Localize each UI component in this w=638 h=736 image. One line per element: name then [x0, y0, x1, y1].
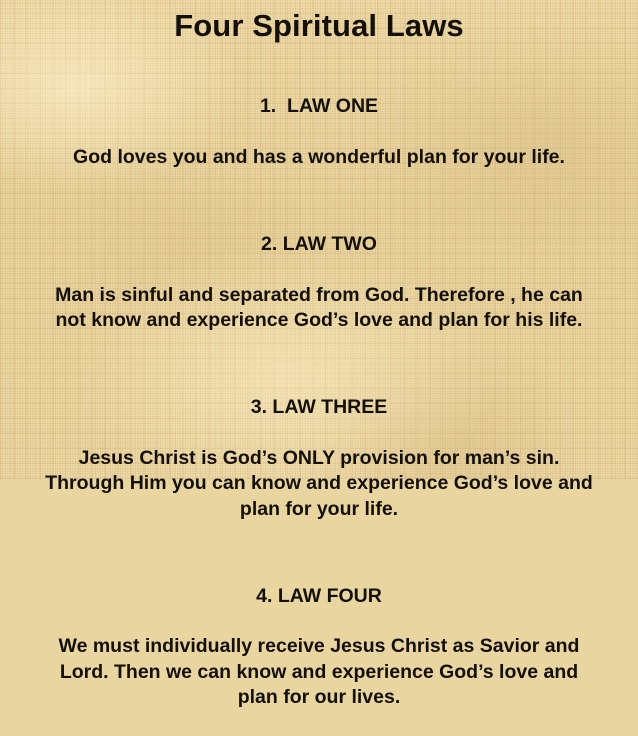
slide-canvas: Four Spiritual Laws 1. LAW ONE God loves… — [0, 0, 638, 479]
law-three-body: Jesus Christ is God’s ONLY provision for… — [8, 446, 630, 522]
law-two-heading: 2. LAW TWO — [8, 232, 630, 257]
law-item-two: 2. LAW TWO Man is sinful and separated f… — [8, 207, 630, 359]
law-one-body: God loves you and has a wonderful plan f… — [8, 145, 630, 170]
page-title: Four Spiritual Laws — [0, 9, 638, 42]
law-item-three: 3. LAW THREE Jesus Christ is God’s ONLY … — [8, 370, 630, 547]
law-one-heading: 1. LAW ONE — [8, 94, 630, 119]
laws-list: 1. LAW ONE God loves you and has a wonde… — [0, 69, 638, 736]
law-four-heading: 4. LAW FOUR — [8, 584, 630, 609]
law-two-body: Man is sinful and separated from God. Th… — [8, 283, 630, 334]
law-item-one: 1. LAW ONE God loves you and has a wonde… — [8, 69, 630, 196]
law-three-heading: 3. LAW THREE — [8, 395, 630, 420]
law-four-body: We must individually receive Jesus Chris… — [8, 634, 630, 710]
law-item-four: 4. LAW FOUR We must individually receive… — [8, 558, 630, 735]
